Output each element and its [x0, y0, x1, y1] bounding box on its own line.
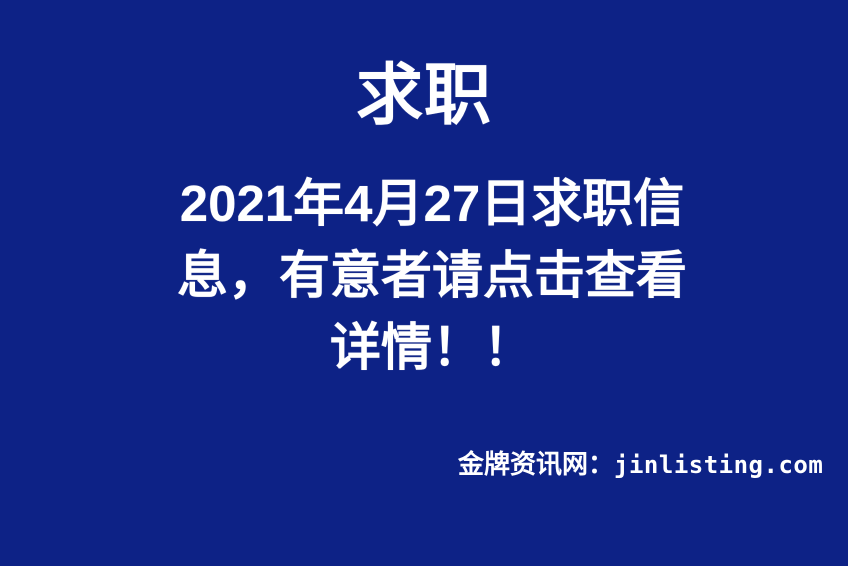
poster-canvas: 求职 2021年4月27日求职信 息，有意者请点击查看 详情！！ 金牌资讯网：j… [0, 0, 848, 566]
announcement-line-1: 2021年4月27日求职信 [168, 168, 696, 240]
announcement-line-2: 息，有意者请点击查看 [168, 240, 696, 312]
announcement-body: 2021年4月27日求职信 息，有意者请点击查看 详情！！ [168, 168, 696, 384]
announcement-line-3: 详情！！ [168, 312, 696, 384]
page-title: 求职 [0, 57, 848, 135]
site-credit: 金牌资讯网：jinlisting.com [458, 447, 814, 482]
site-name-label: 金牌资讯网： [458, 449, 614, 479]
site-url-label: jinlisting.com [614, 451, 823, 479]
